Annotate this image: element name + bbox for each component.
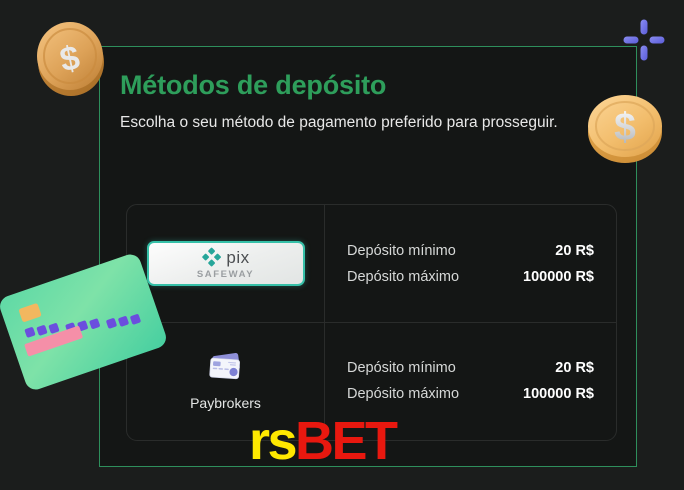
page-subtitle: Escolha o seu método de pagamento prefer… xyxy=(120,110,565,135)
credit-cards-icon xyxy=(205,352,247,386)
heading-block: Métodos de depósito Escolha o seu método… xyxy=(120,68,590,135)
paybrokers-max-deposit-line: Depósito máximo 100000 R$ xyxy=(347,381,594,407)
paybrokers-label: Paybrokers xyxy=(190,395,261,411)
paybrokers-min-deposit-label: Depósito mínimo xyxy=(347,355,456,381)
deposit-methods-screen: Métodos de depósito Escolha o seu método… xyxy=(0,0,684,490)
pix-min-deposit-label: Depósito mínimo xyxy=(347,238,456,264)
pix-safeway-logo[interactable]: pix SAFEWAY xyxy=(147,241,305,286)
payment-methods-panel: pix SAFEWAY Depósito mínimo 20 R$ Depósi… xyxy=(126,204,617,441)
payment-method-row-pix[interactable]: pix SAFEWAY Depósito mínimo 20 R$ Depósi… xyxy=(127,205,616,322)
pix-wordmark: pix xyxy=(226,249,249,266)
pix-deposit-limits: Depósito mínimo 20 R$ Depósito máximo 10… xyxy=(325,238,616,290)
paybrokers-max-deposit-value: 100000 R$ xyxy=(523,381,594,407)
page-title: Métodos de depósito xyxy=(120,68,590,102)
pix-max-deposit-label: Depósito máximo xyxy=(347,264,459,290)
pix-logo-cell[interactable]: pix SAFEWAY xyxy=(127,205,325,322)
watermark-bet: BET xyxy=(295,411,396,471)
gold-coin-dollar-icon: $ xyxy=(584,88,666,166)
svg-text:$: $ xyxy=(614,106,636,149)
paybrokers-min-deposit-value: 20 R$ xyxy=(555,355,594,381)
rsbet-watermark-logo: rsBET xyxy=(249,414,396,468)
gold-coin-dollar-icon: $ xyxy=(34,16,108,100)
watermark-rs: rs xyxy=(249,411,295,471)
paybrokers-min-deposit-line: Depósito mínimo 20 R$ xyxy=(347,355,594,381)
pix-diamond-icon xyxy=(201,247,222,268)
plus-sparkle-icon xyxy=(622,18,666,62)
pix-min-deposit-value: 20 R$ xyxy=(555,238,594,264)
pix-safeway-wordmark: SAFEWAY xyxy=(197,269,254,280)
paybrokers-max-deposit-label: Depósito máximo xyxy=(347,381,459,407)
pix-max-deposit-value: 100000 R$ xyxy=(523,264,594,290)
pix-logo-top: pix xyxy=(201,247,249,268)
pix-max-deposit-line: Depósito máximo 100000 R$ xyxy=(347,264,594,290)
paybrokers-deposit-limits: Depósito mínimo 20 R$ Depósito máximo 10… xyxy=(325,355,616,407)
pix-min-deposit-line: Depósito mínimo 20 R$ xyxy=(347,238,594,264)
